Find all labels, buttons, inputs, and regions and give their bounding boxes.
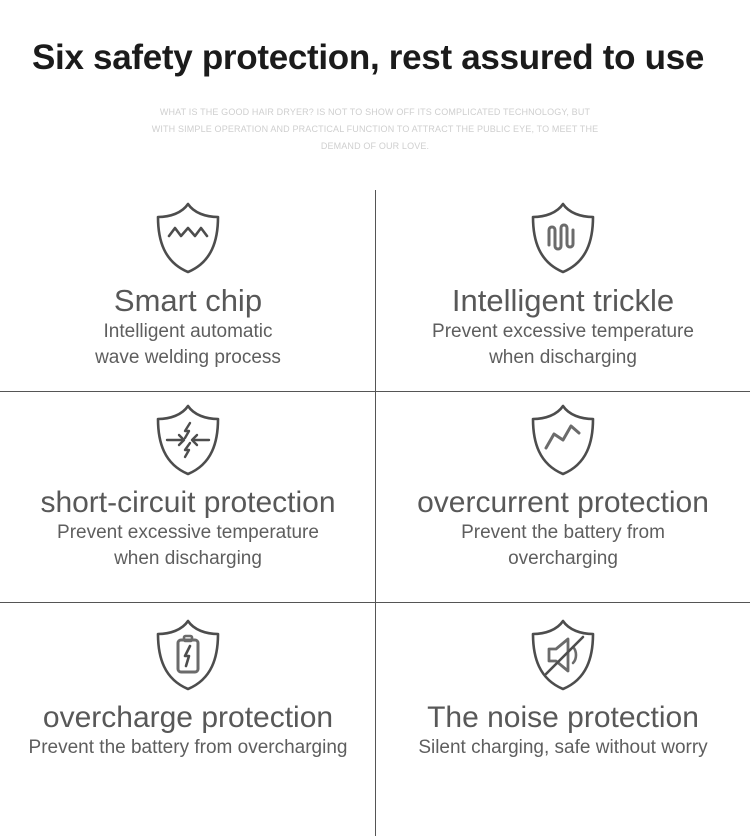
shield-battery-bolt-icon — [150, 615, 226, 695]
shield-step-current-icon — [525, 400, 601, 480]
feature-desc-line: Prevent excessive temperature — [432, 319, 694, 345]
subtitle-line-2: WITH SIMPLE OPERATION AND PRACTICAL FUNC… — [0, 121, 750, 138]
feature-title: Smart chip — [114, 284, 262, 319]
page-subtitle: WHAT IS THE GOOD HAIR DRYER? IS NOT TO S… — [0, 78, 750, 155]
shield-zigzag-wave-icon — [150, 198, 226, 278]
shield-serpentine-trickle-icon — [525, 198, 601, 278]
feature-title: short-circuit protection — [40, 486, 335, 520]
feature-desc-line: Silent charging, safe without worry — [418, 735, 707, 761]
feature-cell-overcurrent-protection: overcurrent protection Prevent the batte… — [376, 392, 750, 603]
shield-muted-speaker-icon — [525, 615, 601, 695]
page-title: Six safety protection, rest assured to u… — [0, 0, 750, 78]
feature-desc-line: Prevent the battery from — [461, 520, 665, 546]
feature-grid: Smart chip Intelligent automatic wave we… — [0, 190, 750, 836]
feature-cell-noise-protection: The noise protection Silent charging, sa… — [376, 603, 750, 836]
feature-title: overcharge protection — [43, 701, 333, 735]
shield-short-circuit-arrows-icon — [150, 400, 226, 480]
feature-title: The noise protection — [427, 701, 699, 735]
feature-cell-intelligent-trickle: Intelligent trickle Prevent excessive te… — [376, 190, 750, 392]
subtitle-line-1: WHAT IS THE GOOD HAIR DRYER? IS NOT TO S… — [0, 104, 750, 121]
feature-desc-line: wave welding process — [95, 345, 281, 371]
feature-desc-line: when discharging — [114, 546, 262, 572]
feature-cell-smart-chip: Smart chip Intelligent automatic wave we… — [0, 190, 376, 392]
feature-title: overcurrent protection — [417, 486, 709, 520]
feature-desc-line: Prevent the battery from overcharging — [29, 735, 348, 761]
feature-desc-line: overcharging — [508, 546, 618, 572]
page-header: Six safety protection, rest assured to u… — [0, 0, 750, 155]
feature-title: Intelligent trickle — [452, 284, 674, 319]
feature-desc-line: Prevent excessive temperature — [57, 520, 319, 546]
feature-cell-overcharge-protection: overcharge protection Prevent the batter… — [0, 603, 376, 836]
subtitle-line-3: DEMAND OF OUR LOVE. — [0, 138, 750, 155]
feature-desc-line: Intelligent automatic — [104, 319, 273, 345]
feature-cell-short-circuit-protection: short-circuit protection Prevent excessi… — [0, 392, 376, 603]
feature-desc-line: when discharging — [489, 345, 637, 371]
